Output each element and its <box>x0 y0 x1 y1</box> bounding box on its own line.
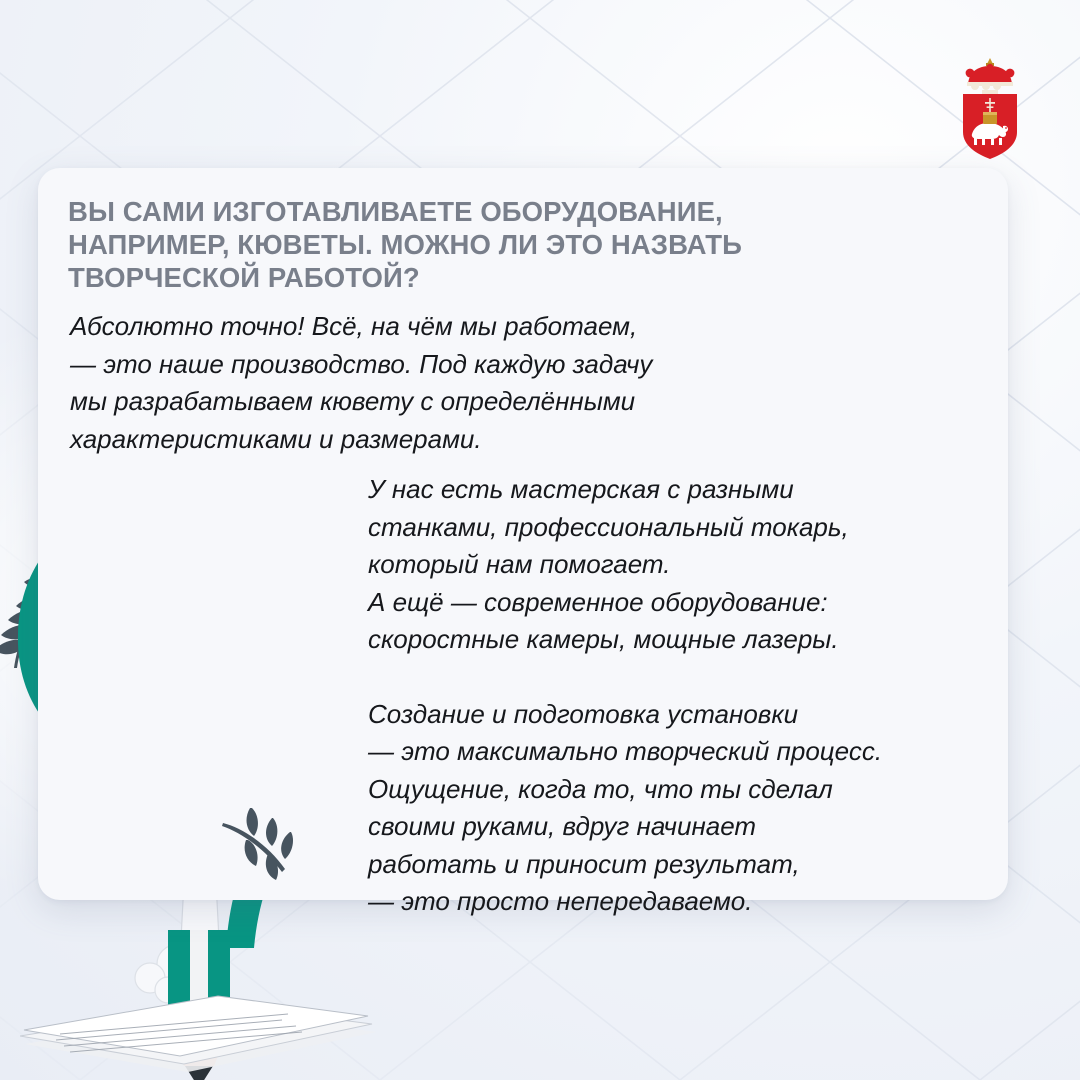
answer-paragraph-2: У нас есть мастерская с разными станками… <box>368 471 988 659</box>
text-line: мы разрабатываем кювету с определёнными <box>70 383 870 421</box>
page-title: ВЫ САМИ ИЗГОТАВЛИВАЕТЕ ОБОРУДОВАНИЕ, НАП… <box>68 195 928 294</box>
text-line: Создание и подготовка установки <box>368 696 988 734</box>
text-line: работать и приносит результат, <box>368 846 988 884</box>
text-line: — это просто непередаваемо. <box>368 883 988 921</box>
heading-line: ТВОРЧЕСКОЙ РАБОТОЙ? <box>68 261 928 294</box>
text-line: станками, профессиональный токарь, <box>368 509 988 547</box>
text-line: Ощущение, когда то, что ты сделал <box>368 771 988 809</box>
text-line: У нас есть мастерская с разными <box>368 471 988 509</box>
text-line: А ещё — современное оборудование: <box>368 584 988 622</box>
crown-icon <box>966 58 1015 94</box>
text-line: Абсолютно точно! Всё, на чём мы работаем… <box>70 308 870 346</box>
heading-line: ВЫ САМИ ИЗГОТАВЛИВАЕТЕ ОБОРУДОВАНИЕ, <box>68 195 928 228</box>
heading-line: НАПРИМЕР, КЮВЕТЫ. МОЖНО ЛИ ЭТО НАЗВАТЬ <box>68 228 928 261</box>
leaf-sprig-right-icon <box>216 796 324 888</box>
coat-of-arms-icon <box>952 52 1028 160</box>
content-card: ВЫ САМИ ИЗГОТАВЛИВАЕТЕ ОБОРУДОВАНИЕ, НАП… <box>38 168 1008 900</box>
text-line: — это наше производство. Под каждую зада… <box>70 346 870 384</box>
text-line: который нам помогает. <box>368 546 988 584</box>
answer-right-column: У нас есть мастерская с разными станками… <box>368 471 988 921</box>
answer-paragraph-1: Абсолютно точно! Всё, на чём мы работаем… <box>70 308 870 458</box>
text-line: скоростные камеры, мощные лазеры. <box>368 621 988 659</box>
text-line: своими руками, вдруг начинает <box>368 808 988 846</box>
answer-paragraph-3: Создание и подготовка установки — это ма… <box>368 696 988 921</box>
text-line: характеристиками и размерами. <box>70 421 870 459</box>
paper-sheet-illustration <box>20 952 380 1080</box>
text-line: — это максимально творческий процесс. <box>368 733 988 771</box>
